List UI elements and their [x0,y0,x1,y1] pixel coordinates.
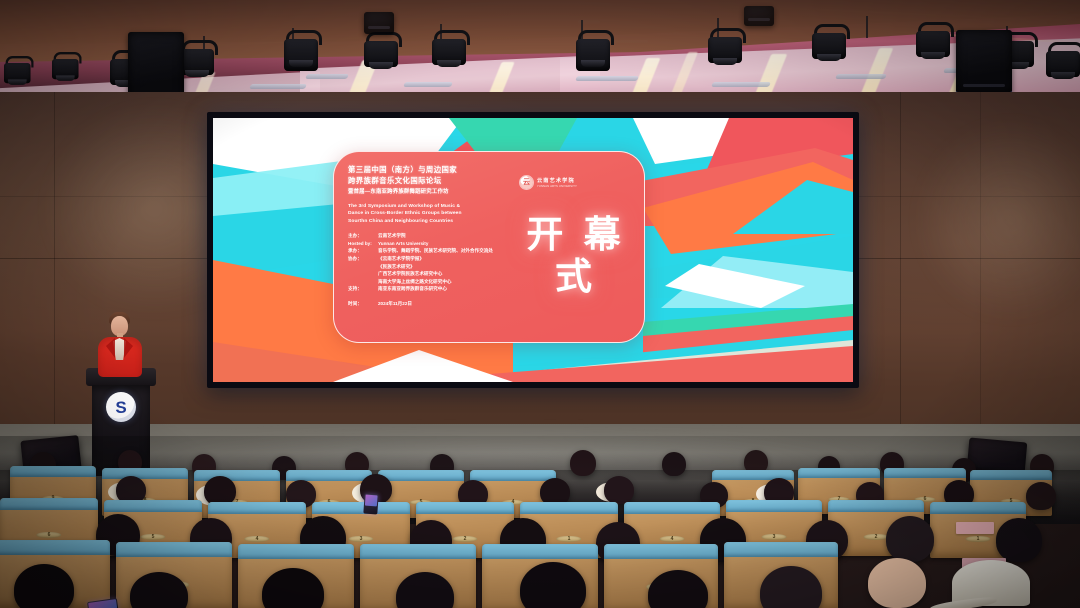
poster-subtitle-cn: 暨首届—东南亚跨界族群舞蹈研究工作坊 [348,188,500,197]
ceiling-speaker [956,30,1012,94]
university-name-en: YUNNAN ARTS UNIVERSITY [537,185,577,188]
audience-head [1026,482,1056,510]
credit-sub-value: 广西艺术学院民族艺术研究中心 [348,270,500,278]
credit-key: 协办： [348,255,378,263]
university-logo: 云 云南艺术学院 YUNNAN ARTS UNIVERSITY [520,176,577,189]
poster-title-en-1: The 3rd Symposium and Workshop of Music … [348,203,500,210]
seat-number: 3 [348,536,373,542]
ceiling-speaker [364,12,394,34]
university-seal-icon: 云 [520,176,533,189]
seat-number: 4 [660,536,685,542]
credit-sub-value: 海南大学海上丝绸之路文化研究中心 [348,278,500,286]
phone-screen [363,494,378,515]
credit-row: 协办： 《云南艺术学院学报》 [348,255,500,263]
screen-content: 第三届中国（南方）与周边国家 跨界族群音乐文化国际论坛 暨首届—东南亚跨界族群舞… [213,118,853,382]
seat-number: 2 [864,534,889,540]
audience-head [14,564,74,608]
credit-key: Hosted by: [348,240,378,248]
audience-head [886,516,934,562]
poster-title-cn-1: 第三届中国（南方）与周边国家 [348,165,500,176]
audience-head [996,518,1042,562]
seat-number: 1 [556,536,581,542]
speaker-person [92,312,148,374]
poster-headline: 开 幕 式 [512,214,640,298]
seat-number: 4 [244,536,269,542]
credit-value: 云南艺术学院 [378,232,500,240]
ceiling-speaker [128,32,184,98]
support-key: 支持： [348,285,378,293]
poster-card: 第三届中国（南方）与周边国家 跨界族群音乐文化国际论坛 暨首届—东南亚跨界族群舞… [333,151,645,343]
white-cap [952,560,1030,606]
credit-sub-value: 《民族艺术研究》 [348,263,500,271]
podium-emblem-icon: S [106,392,136,422]
poster-credit-rows: 主办： 云南艺术学院 Hosted by: Yunnan Arts Univer… [348,232,500,307]
seat-number: 6 [36,532,61,538]
support-row: 支持： 南亚东南亚跨界族群音乐研究中心 [348,285,500,293]
credit-key: 主办： [348,232,378,240]
credit-value: Yunnan Arts University [378,240,500,248]
credit-row: 承办： 音乐学院、舞蹈学院、民族艺术研究院、对外合作交流处 [348,247,500,255]
seat-reserved-note [956,522,994,534]
date-key: 时间： [348,300,378,308]
projection-screen: 第三届中国（南方）与周边国家 跨界族群音乐文化国际论坛 暨首届—东南亚跨界族群舞… [207,112,859,388]
audience-head [604,476,634,504]
auditorium-photo: 第三届中国（南方）与周边国家 跨界族群音乐文化国际论坛 暨首届—东南亚跨界族群舞… [0,0,1080,608]
poster-left-column: 第三届中国（南方）与周边国家 跨界族群音乐文化国际论坛 暨首届—东南亚跨界族群舞… [348,165,500,308]
date-row: 时间： 2024年11月22日 [348,300,500,308]
audience-head [868,558,926,608]
audience-head [570,450,596,476]
credit-value: 《云南艺术学院学报》 [378,255,500,263]
seat-number: 1 [966,536,991,542]
audience-head [662,452,686,476]
ceiling [0,0,1080,98]
credit-row: Hosted by: Yunnan Arts University [348,240,500,248]
credit-row: 主办： 云南艺术学院 [348,232,500,240]
seat-number: 3 [762,534,787,540]
seat-number: 5 [140,534,165,540]
poster-title-cn-2: 跨界族群音乐文化国际论坛 [348,176,500,187]
university-name-cn: 云南艺术学院 [537,177,577,184]
credit-value: 音乐学院、舞蹈学院、民族艺术研究院、对外合作交流处 [378,247,500,255]
ceiling-speaker [744,6,774,26]
poster-right-column: 云 云南艺术学院 YUNNAN ARTS UNIVERSITY 开 幕 式 [506,152,644,342]
credit-key: 承办： [348,247,378,255]
poster-title-en-2: Dance in Cross-Border Ethnic Groups betw… [348,210,500,217]
seat-number: 2 [452,536,477,542]
poster-title-en-3: Sourthn China and Neighbouring Countries [348,218,500,225]
audience-area: 9 8 7 6 5 4 8 7 6 5 6 5 4 3 2 1 4 3 [0,436,1080,608]
date-value: 2024年11月22日 [378,300,500,308]
support-value: 南亚东南亚跨界族群音乐研究中心 [378,285,500,293]
